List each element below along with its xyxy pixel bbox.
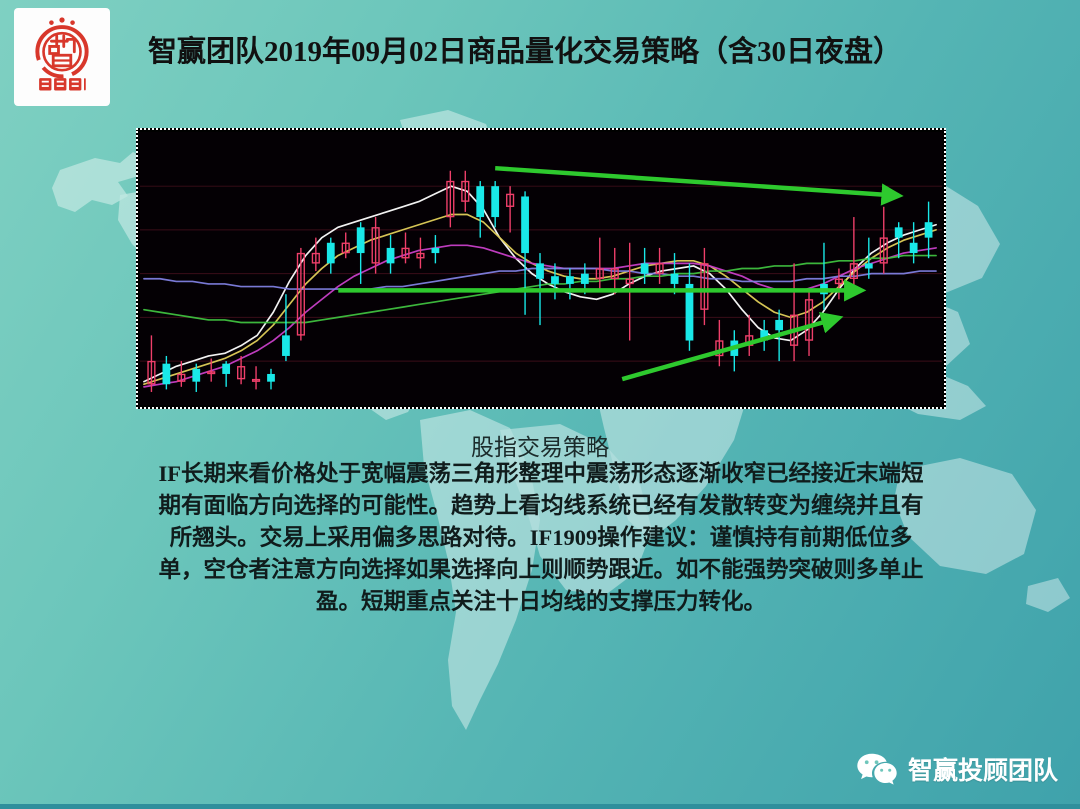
chart-plot-area [140,132,942,405]
page-title: 智赢团队2019年09月02日商品量化交易策略（含30日夜盘） [148,36,1048,69]
footer-label: 智赢投顾团队 [908,751,1058,787]
strategy-paragraph: IF长期来看价格处于宽幅震荡三角形整理中震荡形态逐渐收窄已经接近末端短期有面临方… [150,458,932,618]
slide-canvas: 智赢团队2019年09月02日商品量化交易策略（含30日夜盘） 股指交易策略 I… [0,0,1080,809]
section-subtitle: 股指交易策略 [0,428,1080,462]
bottom-accent-bar [0,804,1080,809]
candlestick-chart[interactable] [136,128,946,409]
brand-logo [14,8,110,106]
wechat-icon [856,752,898,786]
footer-brand: 智赢投顾团队 [856,751,1058,787]
